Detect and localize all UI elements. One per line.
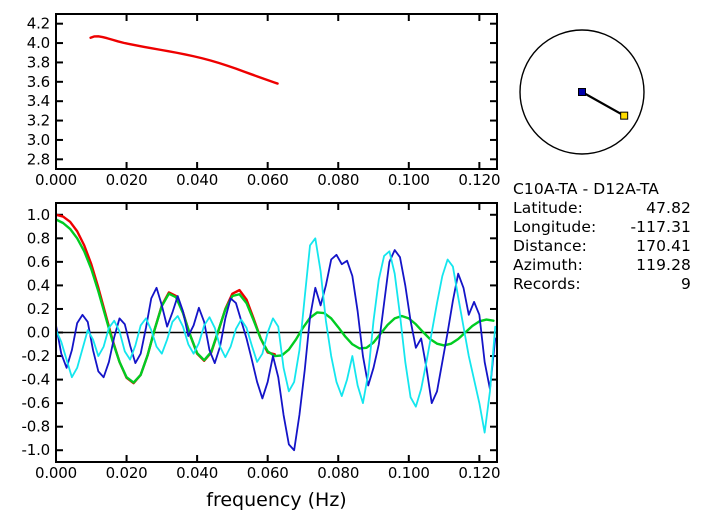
bottom-panel-yticklabel: 0.2	[27, 300, 50, 318]
bottom-panel-yticklabel: -0.6	[22, 394, 50, 412]
info-value-latitude: 47.82	[646, 199, 691, 217]
info-label-latitude: Latitude:	[513, 199, 583, 217]
top-panel-xticklabel: 0.020	[106, 171, 148, 189]
top-panel-xticklabel: 0.080	[317, 171, 359, 189]
top-panel-xticklabel: 0.120	[458, 171, 500, 189]
figure-background	[0, 0, 703, 519]
top-panel-yticklabel: 3.6	[27, 73, 50, 91]
bottom-panel-yticklabel: -1.0	[22, 441, 50, 459]
top-panel-xticklabel: 0.100	[388, 171, 430, 189]
info-value-longitude: -117.31	[630, 218, 691, 236]
station-center-marker	[579, 89, 586, 96]
seismic-coherency-figure: 0.0000.0200.0400.0600.0800.1000.1202.83.…	[0, 0, 703, 519]
top-panel-yticklabel: 3.4	[27, 92, 50, 110]
event-edge-marker	[621, 112, 628, 119]
figure-root: 0.0000.0200.0400.0600.0800.1000.1202.83.…	[0, 0, 703, 519]
top-panel-yticklabel: 4.0	[27, 34, 50, 52]
bottom-panel-xticklabel: 0.120	[458, 464, 500, 482]
bottom-panel-xticklabel: 0.020	[106, 464, 148, 482]
info-label-longitude: Longitude:	[513, 218, 596, 236]
top-panel-yticklabel: 3.2	[27, 112, 50, 130]
bottom-panel-xlabel: frequency (Hz)	[206, 489, 346, 511]
bottom-panel-yticklabel: 0.8	[27, 229, 50, 247]
bottom-panel-xticklabel: 0.040	[176, 464, 218, 482]
bottom-panel-yticklabel: 0.4	[27, 276, 50, 294]
top-panel-yticklabel: 3.8	[27, 53, 50, 71]
station-pair-label: C10A-TA - D12A-TA	[513, 180, 659, 198]
bottom-panel-yticklabel: 0.0	[27, 324, 50, 342]
info-label-records: Records:	[513, 275, 581, 293]
bottom-panel-xticklabel: 0.060	[247, 464, 289, 482]
bottom-panel-yticklabel: -0.2	[22, 347, 50, 365]
info-label-distance: Distance:	[513, 237, 587, 255]
bottom-panel-yticklabel: -0.8	[22, 418, 50, 436]
info-label-azimuth: Azimuth:	[513, 256, 583, 274]
top-panel-yticklabel: 3.0	[27, 131, 50, 149]
bottom-panel-xticklabel: 0.100	[388, 464, 430, 482]
top-panel-xticklabel: 0.000	[35, 171, 77, 189]
top-panel-yticklabel: 4.2	[27, 15, 50, 33]
bottom-panel-yticklabel: 0.6	[27, 253, 50, 271]
info-value-azimuth: 119.28	[636, 256, 691, 274]
bottom-panel-xticklabel: 0.000	[35, 464, 77, 482]
top-panel-yticklabel: 2.8	[27, 150, 50, 168]
top-panel-xticklabel: 0.060	[247, 171, 289, 189]
bottom-panel-yticklabel: 1.0	[27, 206, 50, 224]
info-value-distance: 170.41	[636, 237, 691, 255]
bottom-panel-xticklabel: 0.080	[317, 464, 359, 482]
bottom-panel-yticklabel: -0.4	[22, 371, 50, 389]
top-panel-xticklabel: 0.040	[176, 171, 218, 189]
info-value-records: 9	[681, 275, 691, 293]
